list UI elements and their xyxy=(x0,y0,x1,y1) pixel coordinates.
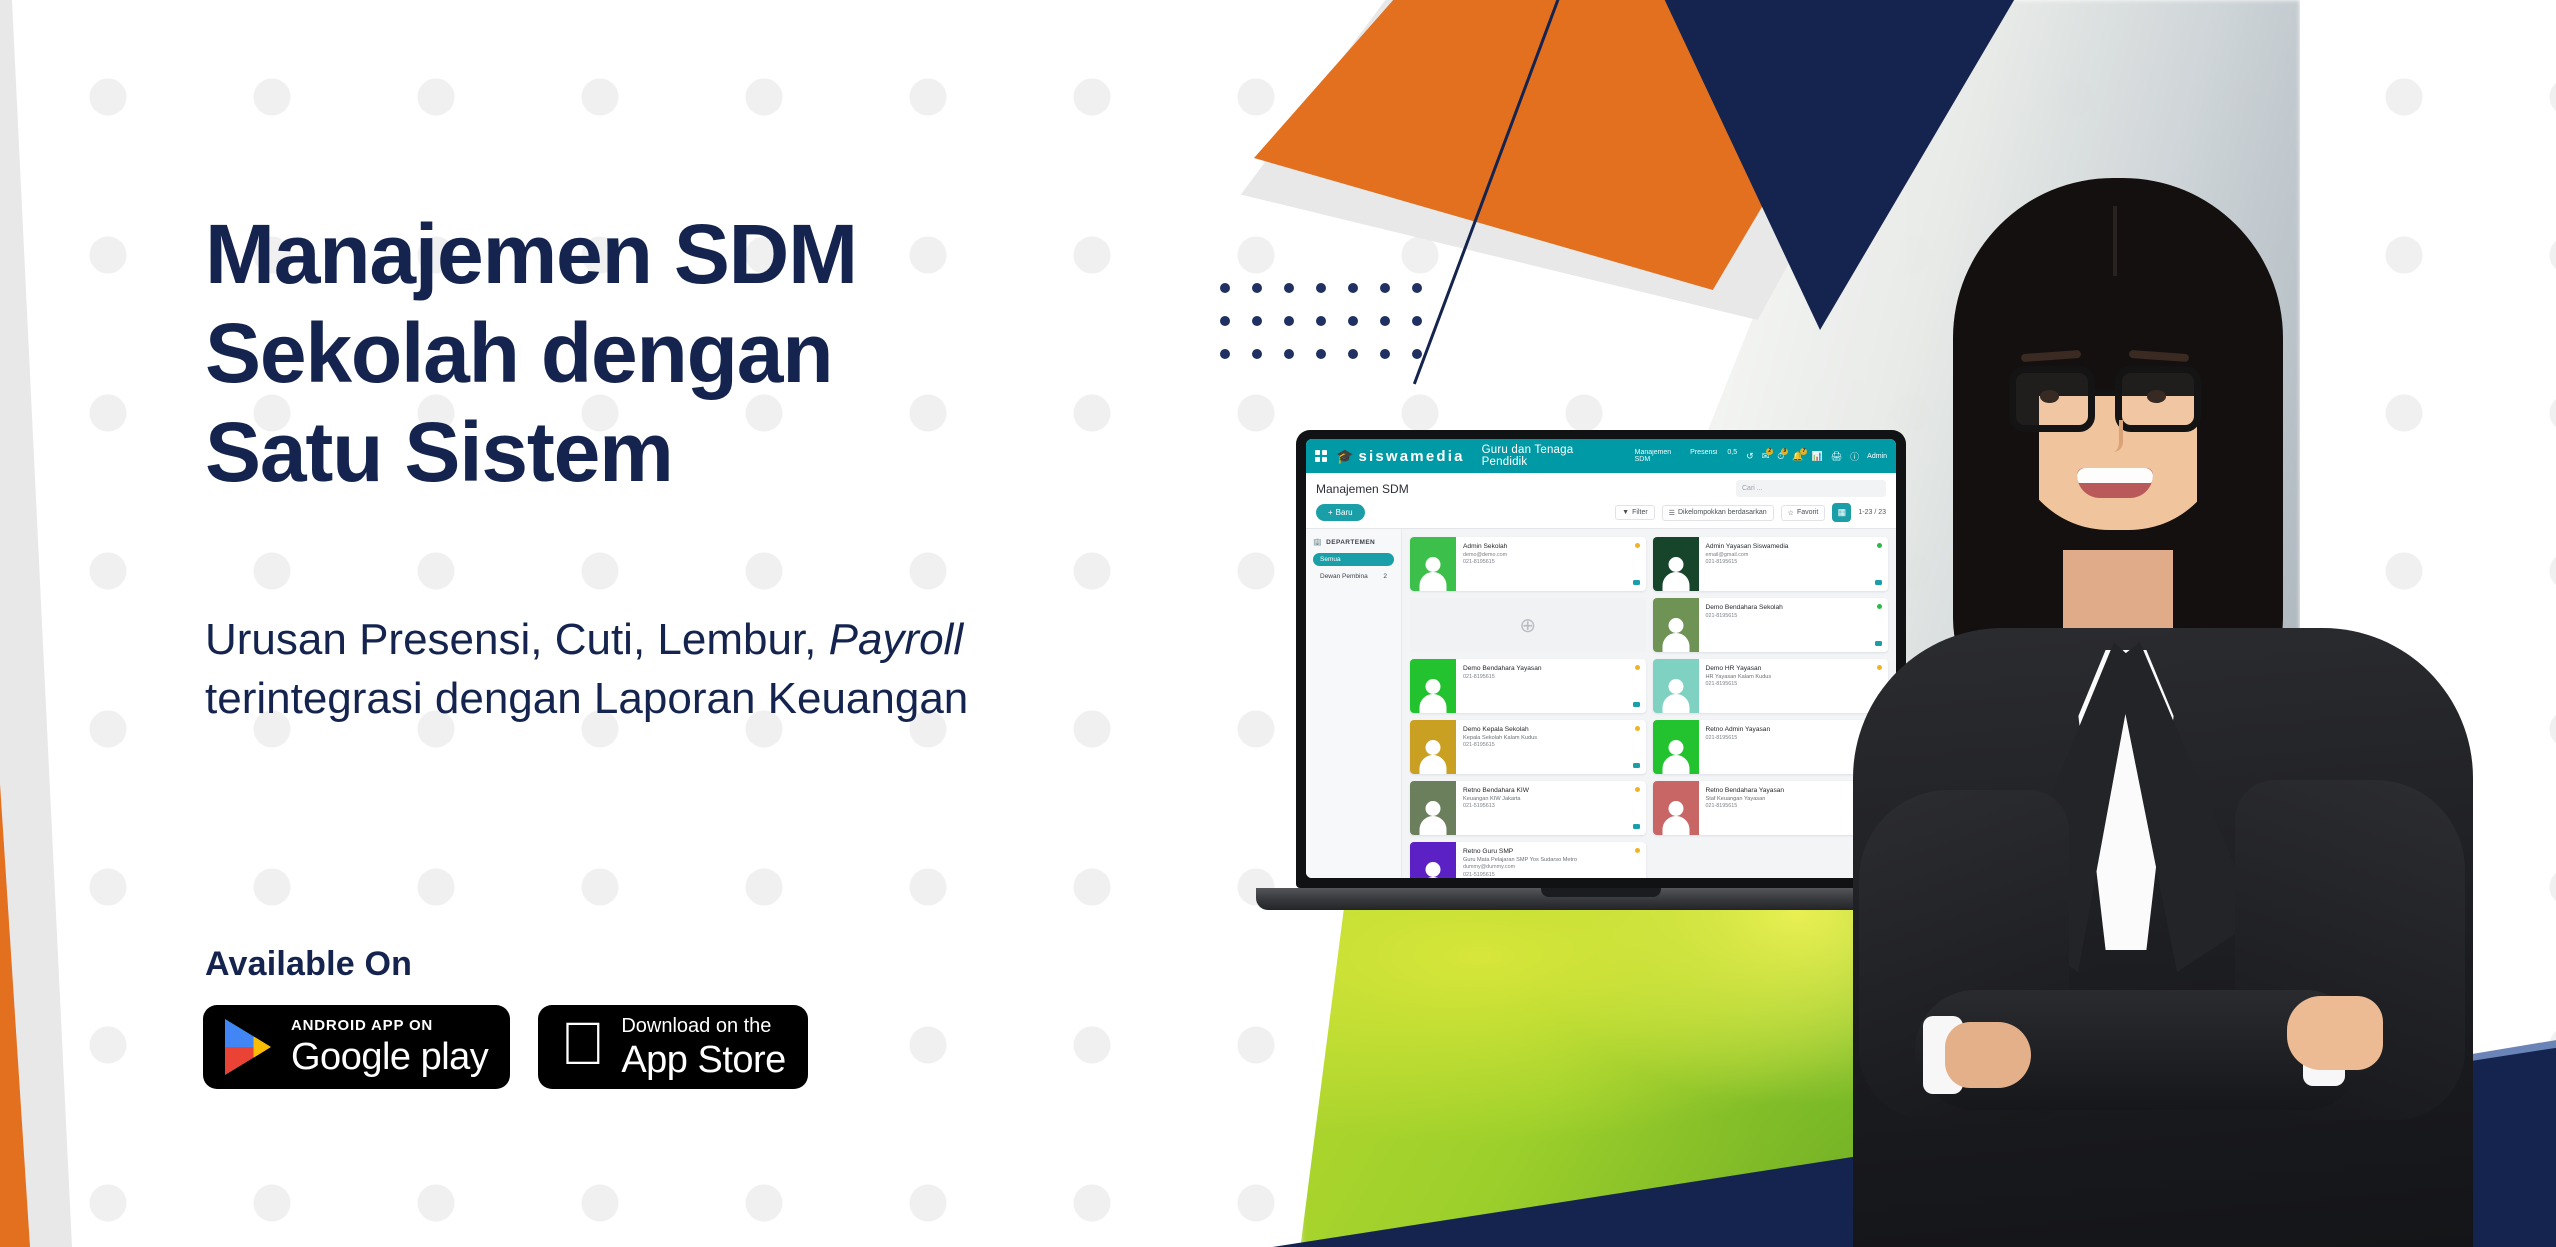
chat-icon[interactable] xyxy=(1875,763,1882,768)
person-silhouette-icon xyxy=(1418,555,1448,591)
brand-name: siswamedia xyxy=(1358,448,1464,465)
app-header: Manajemen SDM Cari ... + Baru ▼ Filter xyxy=(1306,473,1896,529)
app-topbar: 🎓 siswamedia Guru dan Tenaga Pendidik Ma… xyxy=(1306,439,1896,473)
employee-email: dummy@dummy.com xyxy=(1463,864,1640,871)
employee-info: Demo Bendahara Yayasan021-8195615 xyxy=(1456,659,1646,713)
pagination-label: 1-23 / 23 xyxy=(1858,509,1886,516)
bell-badge: 7 xyxy=(1800,448,1807,455)
message-icon[interactable]: ✉2 xyxy=(1762,451,1770,462)
employee-phone: 021-5195613 xyxy=(1463,803,1640,810)
employee-info: Demo HR YayasanHR Yayasan Kalam Kudus021… xyxy=(1699,659,1889,713)
groupby-button[interactable]: ☰ Dikelompokkan berdasarkan xyxy=(1662,505,1774,521)
employee-card-grid: Admin Sekolahdemo@demo.com021-8195615Adm… xyxy=(1402,529,1896,878)
employee-card[interactable]: Retno Guru SMPGuru Mata Pelajaran SMP Yo… xyxy=(1410,842,1646,878)
employee-phone: 021-8195615 xyxy=(1706,613,1883,620)
chat-icon[interactable] xyxy=(1875,641,1882,646)
printer-icon[interactable]: 🖨 xyxy=(1831,451,1842,462)
subtitle-line-2: terintegrasi dengan Laporan Keuangan xyxy=(205,669,1355,728)
employee-card[interactable]: Retno Bendahara YayasanStaf Keuangan Yay… xyxy=(1653,781,1889,835)
person-silhouette-icon xyxy=(1418,799,1448,835)
employee-card[interactable]: Demo Bendahara Yayasan021-8195615 xyxy=(1410,659,1646,713)
help-icon[interactable]: ⓘ xyxy=(1850,450,1859,463)
employee-status-dot[interactable] xyxy=(1635,665,1640,670)
user-menu[interactable]: Admin xyxy=(1867,453,1887,460)
employee-name: Admin Yayasan Siswamedia xyxy=(1706,543,1883,552)
add-photo-card[interactable]: ⊕ xyxy=(1410,598,1646,652)
chat-icon[interactable] xyxy=(1633,763,1640,768)
view-toggle-button[interactable]: ▦ xyxy=(1832,503,1851,522)
employee-name: Demo Bendahara Yayasan xyxy=(1463,665,1640,674)
employee-name: Demo Kepala Sekolah xyxy=(1463,726,1640,735)
employee-status-dot[interactable] xyxy=(1877,787,1882,792)
new-record-button[interactable]: + Baru xyxy=(1316,504,1365,521)
headline-line-1: Manajemen SDM xyxy=(205,205,1205,304)
graduation-cap-icon: 🎓 xyxy=(1336,449,1353,463)
building-icon: 🏢 xyxy=(1313,538,1322,546)
subtitle-line-1: Urusan Presensi, Cuti, Lembur, Payroll xyxy=(205,610,1355,669)
clock-badge: 9 xyxy=(1781,448,1788,455)
search-input[interactable]: Cari ... xyxy=(1736,480,1886,497)
chat-icon[interactable] xyxy=(1875,580,1882,585)
person-silhouette-icon xyxy=(1661,616,1691,652)
sidebar-item-dewan-pembina[interactable]: Dewan Pembina 2 xyxy=(1313,570,1394,583)
filter-icon: ▼ xyxy=(1622,509,1629,516)
decorative-dot-grid xyxy=(1220,283,1444,382)
laptop-base xyxy=(1256,888,1946,910)
employee-phone: 021-8195615 xyxy=(1706,735,1883,742)
app-store-badge-top: Download on the xyxy=(621,1016,786,1036)
chat-icon[interactable] xyxy=(1633,702,1640,707)
employee-avatar xyxy=(1410,842,1456,878)
employee-role: Kepala Sekolah Kalam Kudus xyxy=(1463,735,1640,743)
employee-card[interactable]: Retno Admin Yayasan021-8195615 xyxy=(1653,720,1889,774)
employee-name: Demo HR Yayasan xyxy=(1706,665,1883,674)
employee-phone: 021-8195615 xyxy=(1706,559,1883,566)
google-play-badge-text: ANDROID APP ON Google play xyxy=(291,1018,488,1076)
employee-avatar xyxy=(1410,659,1456,713)
store-badges: ANDROID APP ON Google play  Download on… xyxy=(203,1005,808,1089)
list-toolbar: ▼ Filter ☰ Dikelompokkan berdasarkan ☆ F… xyxy=(1615,503,1886,522)
employee-info: Retno Bendahara YayasanStaf Keuangan Yay… xyxy=(1699,781,1889,835)
person-silhouette-icon xyxy=(1661,555,1691,591)
sidebar-item-dewan-pembina-label: Dewan Pembina xyxy=(1320,573,1368,580)
employee-info: Retno Guru SMPGuru Mata Pelajaran SMP Yo… xyxy=(1456,842,1646,878)
person-silhouette-icon xyxy=(1418,860,1448,878)
module-name: Guru dan Tenaga Pendidik xyxy=(1482,444,1612,468)
sidebar-item-semua-label: Semua xyxy=(1320,556,1341,563)
employee-card[interactable]: Admin Sekolahdemo@demo.com021-8195615 xyxy=(1410,537,1646,591)
nav-item-manajemen-sdm[interactable]: Manajemen SDM xyxy=(1635,449,1681,463)
headline-line-2: Sekolah dengan xyxy=(205,304,1205,403)
employee-role: Staf Keuangan Yayasan xyxy=(1706,796,1883,804)
employee-phone: 021-8195615 xyxy=(1463,674,1640,681)
employee-phone: 021-8195615 xyxy=(1706,681,1883,688)
employee-avatar xyxy=(1653,537,1699,591)
chat-icon[interactable] xyxy=(1875,702,1882,707)
employee-avatar xyxy=(1410,537,1456,591)
employee-status-dot[interactable] xyxy=(1877,726,1882,731)
employee-status-dot[interactable] xyxy=(1635,543,1640,548)
chat-icon[interactable] xyxy=(1633,580,1640,585)
topbar-right-icons: ↺ ✉2 ⏱9 🔔7 📊 🖨 ⓘ Admin xyxy=(1746,450,1887,463)
filter-label: Filter xyxy=(1632,509,1648,516)
employee-phone: 021-8195615 xyxy=(1463,742,1640,749)
employee-email: email@gmail.com xyxy=(1706,552,1883,559)
app-store-badge[interactable]:  Download on the App Store xyxy=(538,1005,808,1089)
clock-icon[interactable]: ⏱9 xyxy=(1777,451,1784,462)
employee-card[interactable]: Demo Kepala SekolahKepala Sekolah Kalam … xyxy=(1410,720,1646,774)
employee-status-dot[interactable] xyxy=(1635,787,1640,792)
employee-role: HR Yayasan Kalam Kudus xyxy=(1706,674,1883,682)
subtitle-emphasis: Payroll xyxy=(829,615,964,664)
employee-phone: 021-8195615 xyxy=(1706,803,1883,810)
employee-avatar xyxy=(1410,781,1456,835)
sidebar-title-label: DEPARTEMEN xyxy=(1326,539,1375,546)
groupby-label: Dikelompokkan berdasarkan xyxy=(1678,509,1767,516)
employee-name: Retno Bendahara Yayasan xyxy=(1706,787,1883,796)
star-icon: ☆ xyxy=(1788,509,1794,517)
employee-phone: 021-5195615 xyxy=(1463,872,1640,878)
employee-role: Guru Mata Pelajaran SMP Yos Sudarso Metr… xyxy=(1463,857,1640,865)
employee-role: Keuangan KIW Jakarta xyxy=(1463,796,1640,804)
employee-status-dot[interactable] xyxy=(1877,604,1882,609)
employee-avatar xyxy=(1653,720,1699,774)
google-play-badge[interactable]: ANDROID APP ON Google play xyxy=(203,1005,510,1089)
employee-name: Retno Bendahara KIW xyxy=(1463,787,1640,796)
list-icon: ☰ xyxy=(1669,509,1675,517)
sidebar-title: 🏢 DEPARTEMEN xyxy=(1313,538,1394,546)
brand-logo[interactable]: 🎓 siswamedia xyxy=(1336,448,1465,465)
app-header-toolbar-row: + Baru ▼ Filter ☰ Dikelompokkan berdasar… xyxy=(1316,503,1886,522)
employee-name: Retno Guru SMP xyxy=(1463,848,1640,857)
nav-item-presensi[interactable]: Presensi xyxy=(1690,449,1717,463)
employee-card[interactable]: Demo HR YayasanHR Yayasan Kalam Kudus021… xyxy=(1653,659,1889,713)
employee-status-dot[interactable] xyxy=(1635,726,1640,731)
employee-avatar xyxy=(1653,659,1699,713)
headline: Manajemen SDM Sekolah dengan Satu Sistem xyxy=(205,205,1205,502)
app-body: 🏢 DEPARTEMEN Semua Dewan Pembina 2 Admin… xyxy=(1306,529,1896,878)
favorite-label: Favorit xyxy=(1797,509,1818,516)
laptop-lid: 🎓 siswamedia Guru dan Tenaga Pendidik Ma… xyxy=(1296,430,1906,888)
employee-email: demo@demo.com xyxy=(1463,552,1640,559)
person-silhouette-icon xyxy=(1418,677,1448,713)
chat-icon[interactable] xyxy=(1875,824,1882,829)
subtitle: Urusan Presensi, Cuti, Lembur, Payroll t… xyxy=(205,610,1355,729)
top-nav-items: Manajemen SDM Presensi 0,5 xyxy=(1635,449,1738,463)
bell-icon[interactable]: 🔔7 xyxy=(1792,451,1803,462)
new-record-label: Baru xyxy=(1336,508,1353,517)
laptop-mockup: 🎓 siswamedia Guru dan Tenaga Pendidik Ma… xyxy=(1296,430,1946,910)
employee-info: Admin Yayasan Siswamediaemail@gmail.com0… xyxy=(1699,537,1889,591)
apps-grid-icon[interactable] xyxy=(1315,450,1327,462)
employee-card[interactable]: Retno Bendahara KIWKeuangan KIW Jakarta0… xyxy=(1410,781,1646,835)
employee-avatar xyxy=(1653,781,1699,835)
subtitle-text: Urusan Presensi, Cuti, Lembur, xyxy=(205,615,829,664)
marketing-banner: Manajemen SDM Sekolah dengan Satu Sistem… xyxy=(0,0,2556,1247)
chart-icon[interactable]: 📊 xyxy=(1811,451,1822,462)
employee-avatar xyxy=(1653,598,1699,652)
favorite-button[interactable]: ☆ Favorit xyxy=(1781,505,1826,521)
google-play-badge-top: ANDROID APP ON xyxy=(291,1018,488,1033)
app-store-badge-text: Download on the App Store xyxy=(621,1016,786,1079)
department-sidebar: 🏢 DEPARTEMEN Semua Dewan Pembina 2 xyxy=(1306,529,1402,878)
filter-button[interactable]: ▼ Filter xyxy=(1615,505,1655,520)
headline-line-3: Satu Sistem xyxy=(205,403,1205,502)
person-silhouette-icon xyxy=(1661,799,1691,835)
nav-item-extra[interactable]: 0,5 xyxy=(1727,449,1737,463)
employee-card[interactable]: Admin Yayasan Siswamediaemail@gmail.com0… xyxy=(1653,537,1889,591)
available-on-label: Available On xyxy=(205,945,412,984)
employee-status-dot[interactable] xyxy=(1877,543,1882,548)
person-silhouette-icon xyxy=(1661,738,1691,774)
google-play-badge-main: Google play xyxy=(291,1038,488,1076)
employee-info: Retno Bendahara KIWKeuangan KIW Jakarta0… xyxy=(1456,781,1646,835)
page-title: Manajemen SDM xyxy=(1316,482,1409,496)
employee-name: Demo Bendahara Sekolah xyxy=(1706,604,1883,613)
plus-icon: + xyxy=(1328,508,1333,517)
employee-avatar xyxy=(1410,720,1456,774)
employee-status-dot[interactable] xyxy=(1877,665,1882,670)
person-silhouette-icon xyxy=(1661,677,1691,713)
employee-info: Admin Sekolahdemo@demo.com021-8195615 xyxy=(1456,537,1646,591)
message-badge: 2 xyxy=(1766,448,1773,455)
google-play-icon xyxy=(225,1019,275,1075)
employee-info: Demo Bendahara Sekolah021-8195615 xyxy=(1699,598,1889,652)
employee-info: Retno Admin Yayasan021-8195615 xyxy=(1699,720,1889,774)
refresh-icon[interactable]: ↺ xyxy=(1746,451,1754,462)
sidebar-item-dewan-pembina-count: 2 xyxy=(1383,573,1387,580)
employee-name: Retno Admin Yayasan xyxy=(1706,726,1883,735)
employee-info: Demo Kepala SekolahKepala Sekolah Kalam … xyxy=(1456,720,1646,774)
app-header-title-row: Manajemen SDM Cari ... xyxy=(1316,480,1886,497)
apple-icon:  xyxy=(560,1014,605,1074)
employee-status-dot[interactable] xyxy=(1635,848,1640,853)
employee-name: Admin Sekolah xyxy=(1463,543,1640,552)
chat-icon[interactable] xyxy=(1633,824,1640,829)
employee-card[interactable]: Demo Bendahara Sekolah021-8195615 xyxy=(1653,598,1889,652)
sidebar-item-semua[interactable]: Semua xyxy=(1313,553,1394,566)
app-store-badge-main: App Store xyxy=(621,1041,786,1079)
employee-phone: 021-8195615 xyxy=(1463,559,1640,566)
laptop-notch xyxy=(1541,888,1661,897)
person-silhouette-icon xyxy=(1418,738,1448,774)
app-screen: 🎓 siswamedia Guru dan Tenaga Pendidik Ma… xyxy=(1306,439,1896,878)
